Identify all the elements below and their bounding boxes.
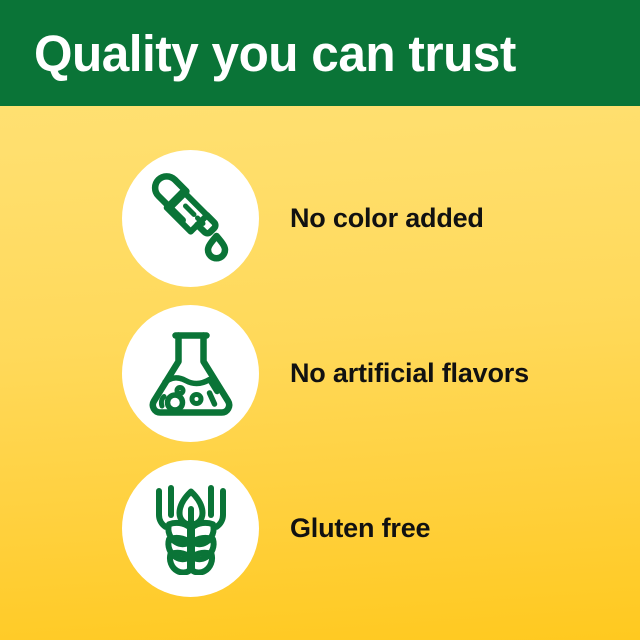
feature-item-no-artificial-flavors: No artificial flavors bbox=[0, 299, 640, 454]
dropper-icon bbox=[145, 173, 237, 265]
feature-label: Gluten free bbox=[290, 514, 430, 544]
feature-label: No color added bbox=[290, 204, 484, 234]
feature-item-no-color-added: No color added bbox=[0, 144, 640, 299]
flask-icon bbox=[145, 328, 237, 420]
wheat-icon bbox=[145, 483, 237, 575]
quality-badge-poster: Quality you can trust bbox=[0, 0, 640, 640]
feature-list: No color added bbox=[0, 106, 640, 640]
icon-badge-circle bbox=[122, 150, 259, 287]
header-banner: Quality you can trust bbox=[0, 0, 640, 106]
feature-item-gluten-free: Gluten free bbox=[0, 454, 640, 609]
feature-label: No artificial flavors bbox=[290, 359, 529, 389]
icon-badge-circle bbox=[122, 460, 259, 597]
icon-badge-circle bbox=[122, 305, 259, 442]
page-title: Quality you can trust bbox=[34, 28, 516, 79]
